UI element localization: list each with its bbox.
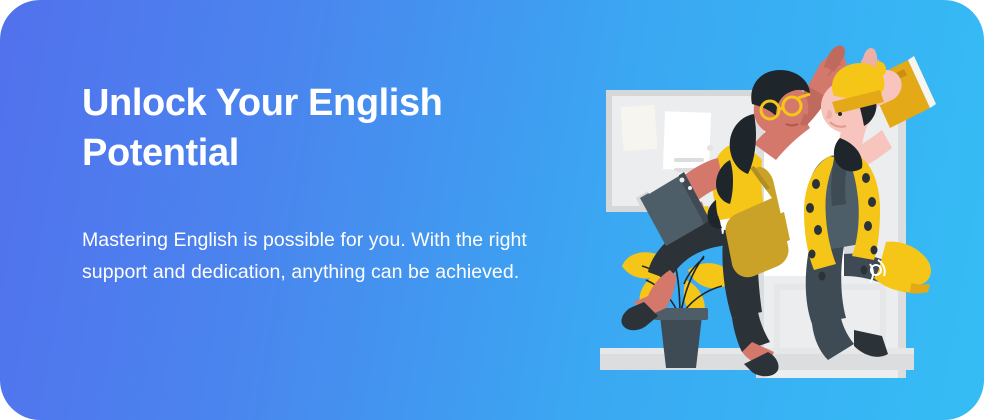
promo-banner: Unlock Your English Potential Mastering … xyxy=(0,0,984,420)
two-students-high-five-illustration xyxy=(578,18,938,402)
page-title: Unlock Your English Potential xyxy=(82,78,552,178)
banner-text-block: Unlock Your English Potential Mastering … xyxy=(82,78,552,288)
banner-subcopy: Mastering English is possible for you. W… xyxy=(82,178,552,288)
plant-pot xyxy=(660,316,702,368)
